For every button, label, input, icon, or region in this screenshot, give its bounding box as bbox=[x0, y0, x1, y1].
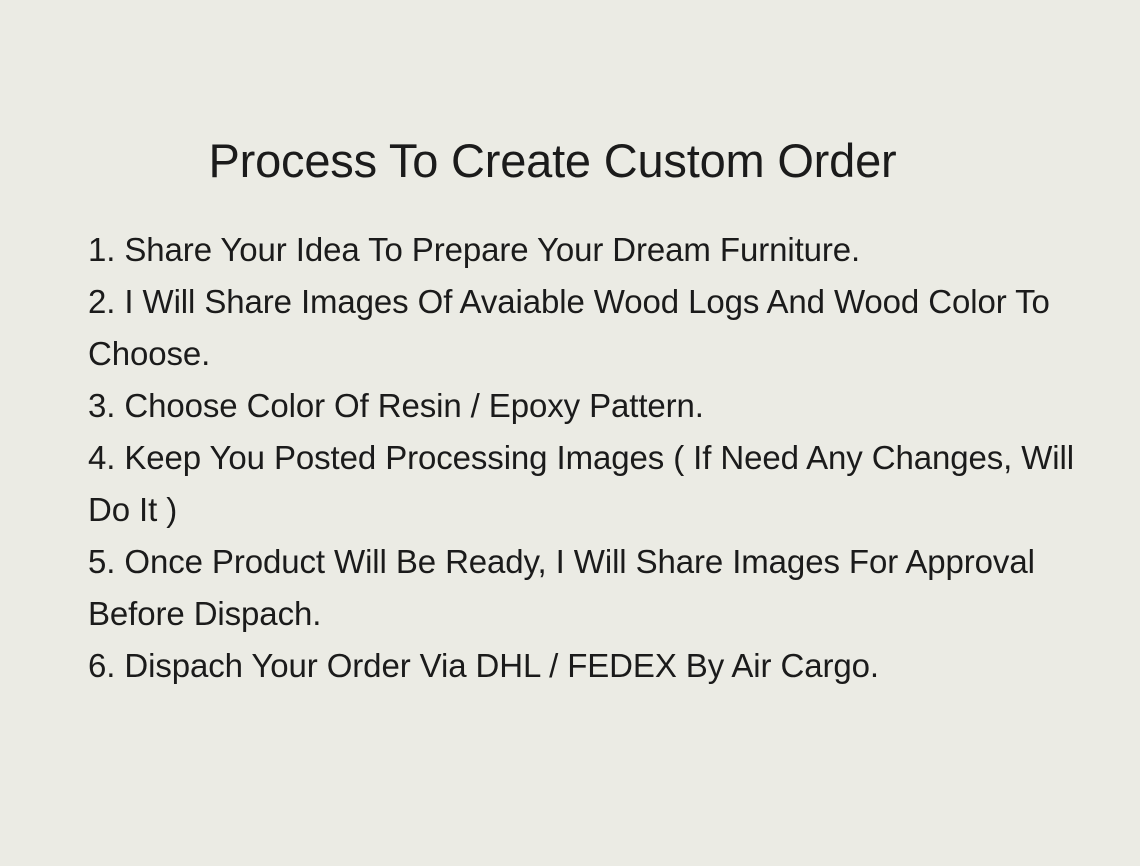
document-page: Process To Create Custom Order 1. Share … bbox=[0, 0, 1140, 866]
process-step-2: 2. I Will Share Images Of Avaiable Wood … bbox=[88, 276, 1118, 380]
page-title: Process To Create Custom Order bbox=[0, 135, 1105, 187]
process-step-5: 5. Once Product Will Be Ready, I Will Sh… bbox=[88, 536, 1118, 640]
process-steps-list: 1. Share Your Idea To Prepare Your Dream… bbox=[88, 224, 1118, 692]
process-step-4: 4. Keep You Posted Processing Images ( I… bbox=[88, 432, 1118, 536]
process-step-6: 6. Dispach Your Order Via DHL / FEDEX By… bbox=[88, 640, 1118, 692]
process-step-1: 1. Share Your Idea To Prepare Your Dream… bbox=[88, 224, 1118, 276]
process-step-3: 3. Choose Color Of Resin / Epoxy Pattern… bbox=[88, 380, 1118, 432]
